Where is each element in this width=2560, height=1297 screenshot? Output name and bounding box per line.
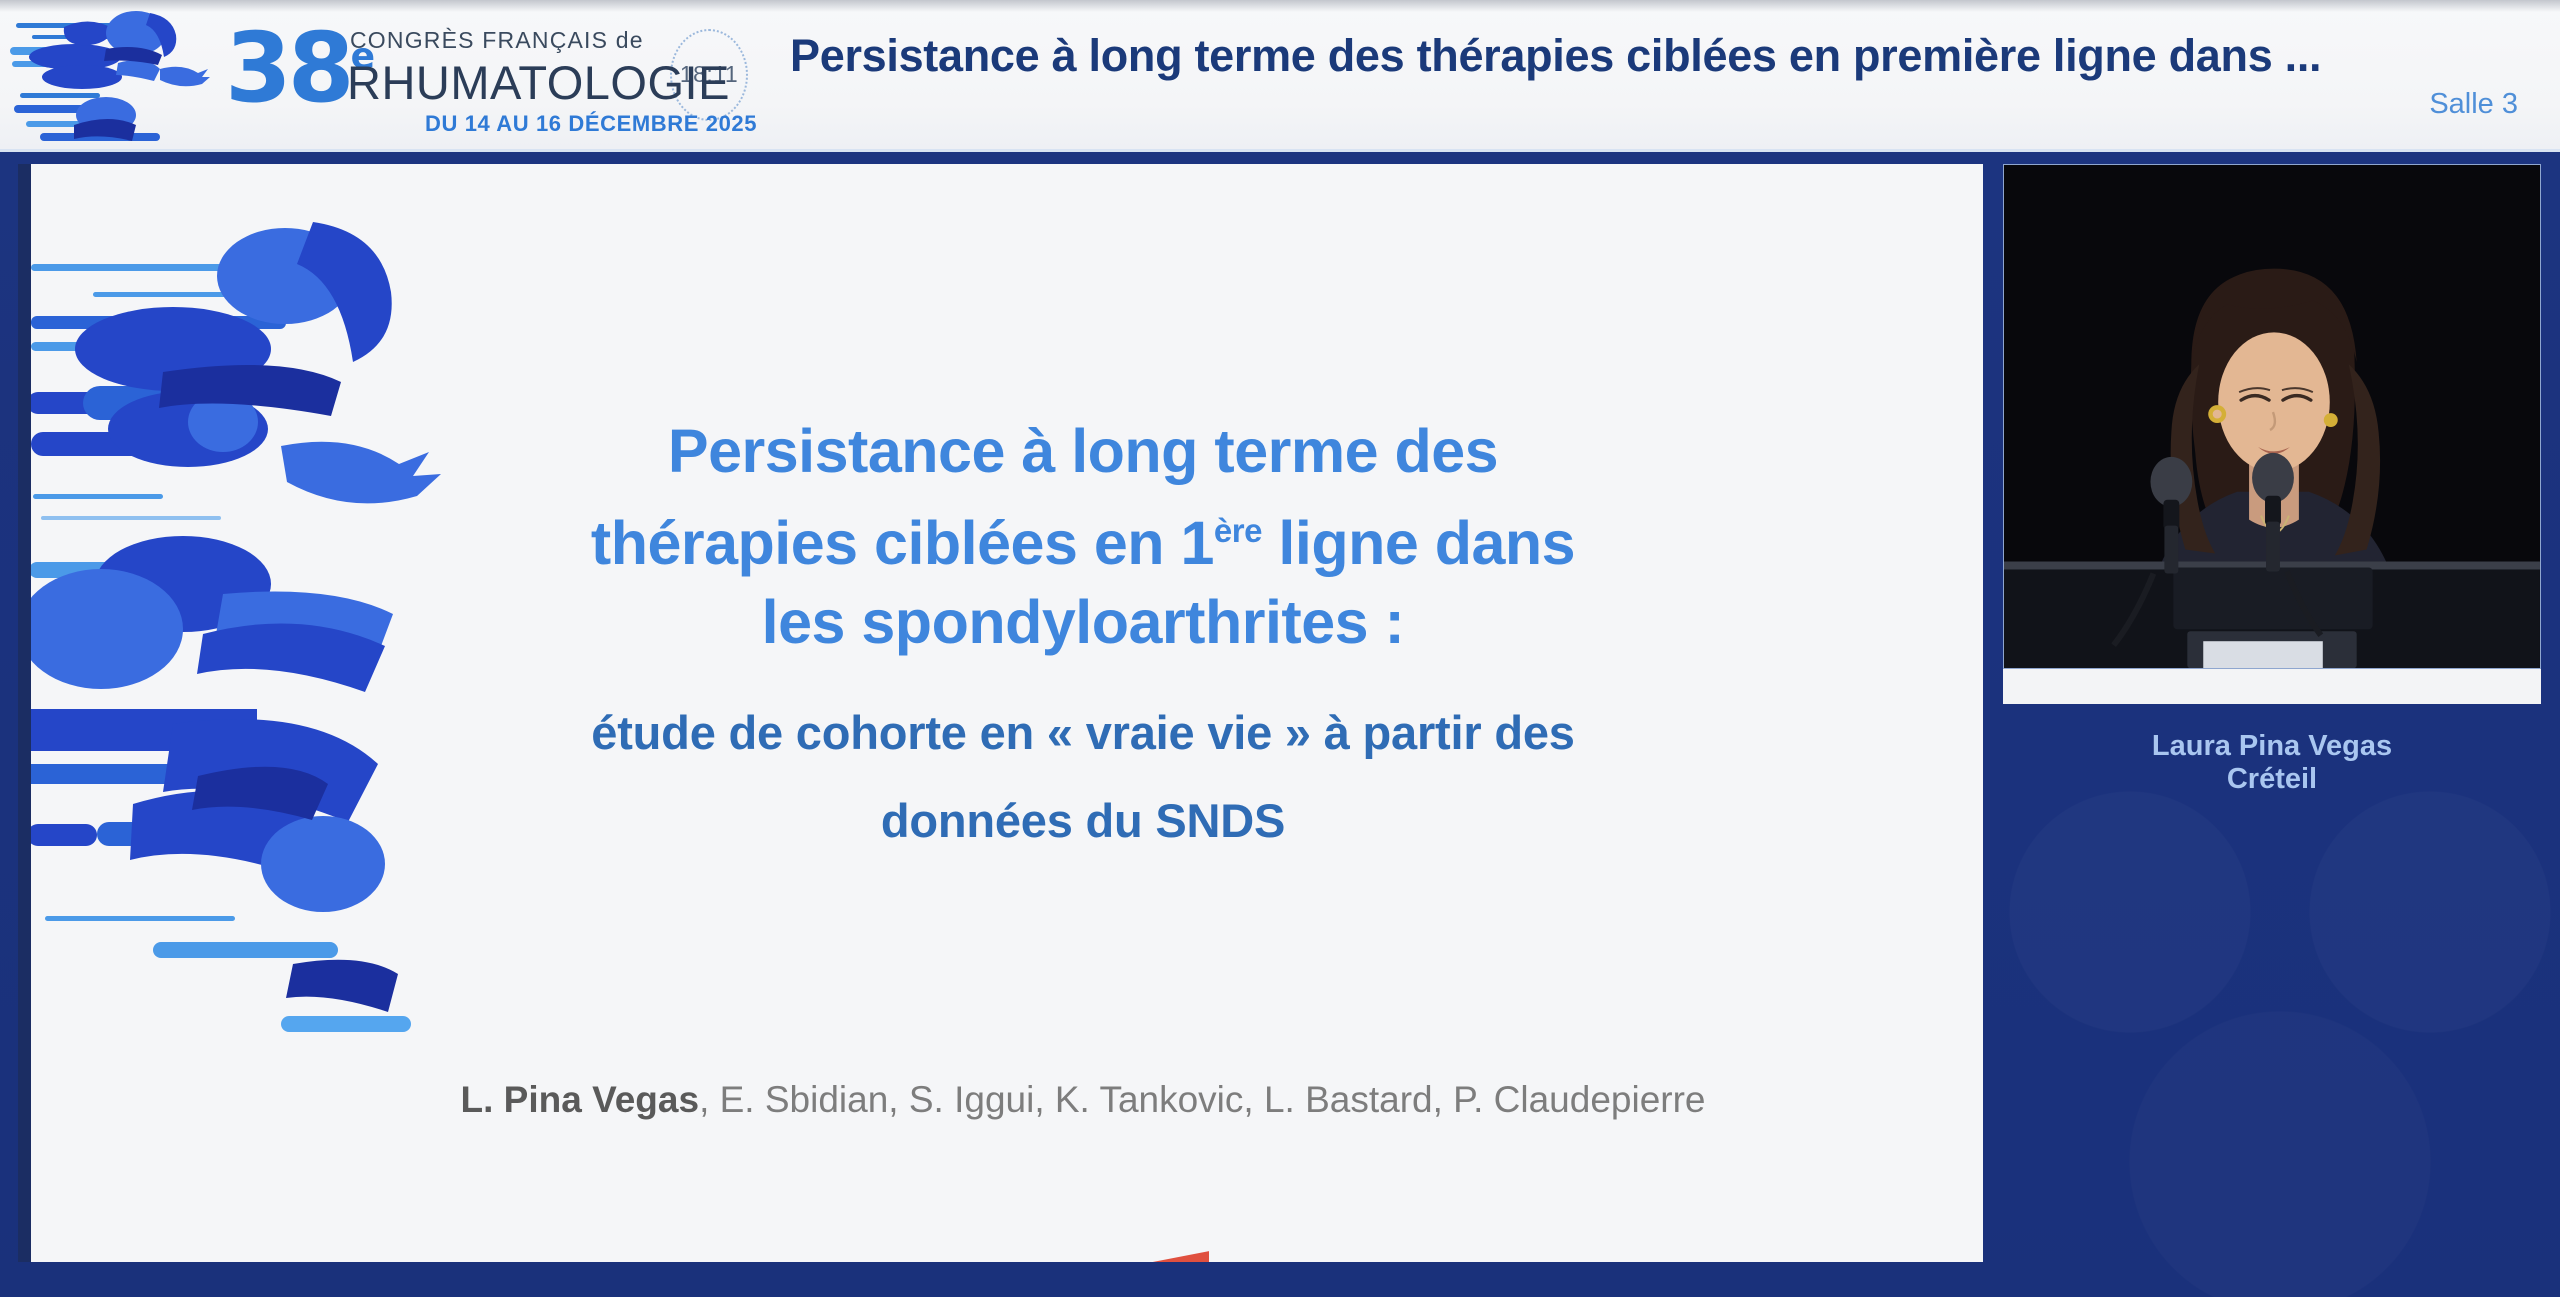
slide-authors: L. Pina Vegas, E. Sbidian, S. Iggui, K. …	[353, 1079, 1813, 1121]
congress-line: CONGRÈS FRANÇAIS de	[350, 27, 644, 54]
speaker-name: Laura Pina Vegas	[2003, 730, 2541, 763]
coauthors: , E. Sbidian, S. Iggui, K. Tankovic, L. …	[699, 1079, 1705, 1120]
congress-dates: DU 14 AU 16 DÉCEMBRE 2025	[425, 111, 757, 137]
slide-title-line2a: thérapies ciblées en 1	[591, 509, 1214, 577]
congress-logo-text: 38e CONGRÈS FRANÇAIS de RHUMATOLOGIE DU …	[225, 7, 645, 147]
session-title: Persistance à long terme des thérapies c…	[790, 29, 2518, 83]
discipline-line: RHUMATOLOGIE	[347, 55, 730, 110]
slide-subtitle-line1: étude de cohorte en « vraie vie » à part…	[591, 706, 1574, 759]
slide-title-line3: les spondyloarthrites :	[762, 588, 1405, 656]
congress-logo: 38e CONGRÈS FRANÇAIS de RHUMATOLOGIE DU …	[0, 0, 660, 151]
speaker-city: Créteil	[2003, 763, 2541, 796]
slide-subtitle: étude de cohorte en « vraie vie » à part…	[353, 689, 1813, 865]
video-caption-strip	[2003, 669, 2541, 704]
slide-subtitle-line2: données du SNDS	[881, 794, 1285, 847]
runner-logo-icon	[10, 5, 225, 147]
speaker-video-frame	[2004, 165, 2540, 668]
speaker-video-feed[interactable]	[2003, 164, 2541, 669]
header-title-block: Persistance à long terme des thérapies c…	[790, 29, 2560, 121]
epiderme-logo-icon	[78, 1246, 368, 1262]
slide-title-line2b: ligne dans	[1262, 509, 1575, 577]
slide-text-content: Persistance à long terme des thérapies c…	[353, 164, 1953, 1262]
slide-title-ordinal: ère	[1214, 512, 1262, 549]
slide-surface[interactable]: Persistance à long terme des thérapies c…	[18, 164, 1983, 1262]
room-label: Salle 3	[790, 87, 2518, 121]
slide-title: Persistance à long terme des thérapies c…	[353, 412, 1813, 662]
slide-title-line1: Persistance à long terme des	[668, 417, 1498, 485]
presenting-author: L. Pina Vegas	[461, 1079, 700, 1120]
presentation-stage: Persistance à long terme des thérapies c…	[0, 152, 2560, 1297]
app-header: 38e CONGRÈS FRANÇAIS de RHUMATOLOGIE DU …	[0, 0, 2560, 152]
